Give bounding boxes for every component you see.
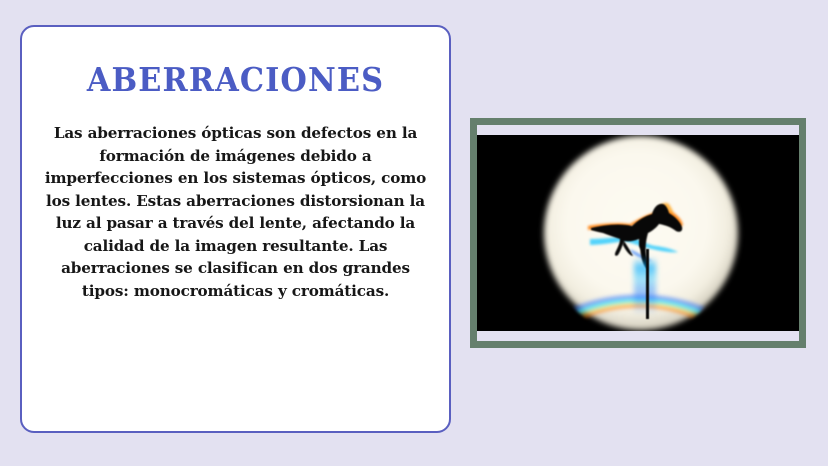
page-title: ABERRACIONES <box>39 27 432 96</box>
support-rod <box>646 249 649 319</box>
text-card: ABERRACIONES Las aberraciones ópticas so… <box>20 25 451 433</box>
slide-canvas: ABERRACIONES Las aberraciones ópticas so… <box>0 0 828 466</box>
rod-color-flare <box>634 257 656 315</box>
photo-image <box>477 135 799 331</box>
photo-frame <box>470 118 806 348</box>
photo-mat <box>477 125 799 341</box>
body-paragraph: Las aberraciones ópticas son defectos en… <box>22 96 449 302</box>
